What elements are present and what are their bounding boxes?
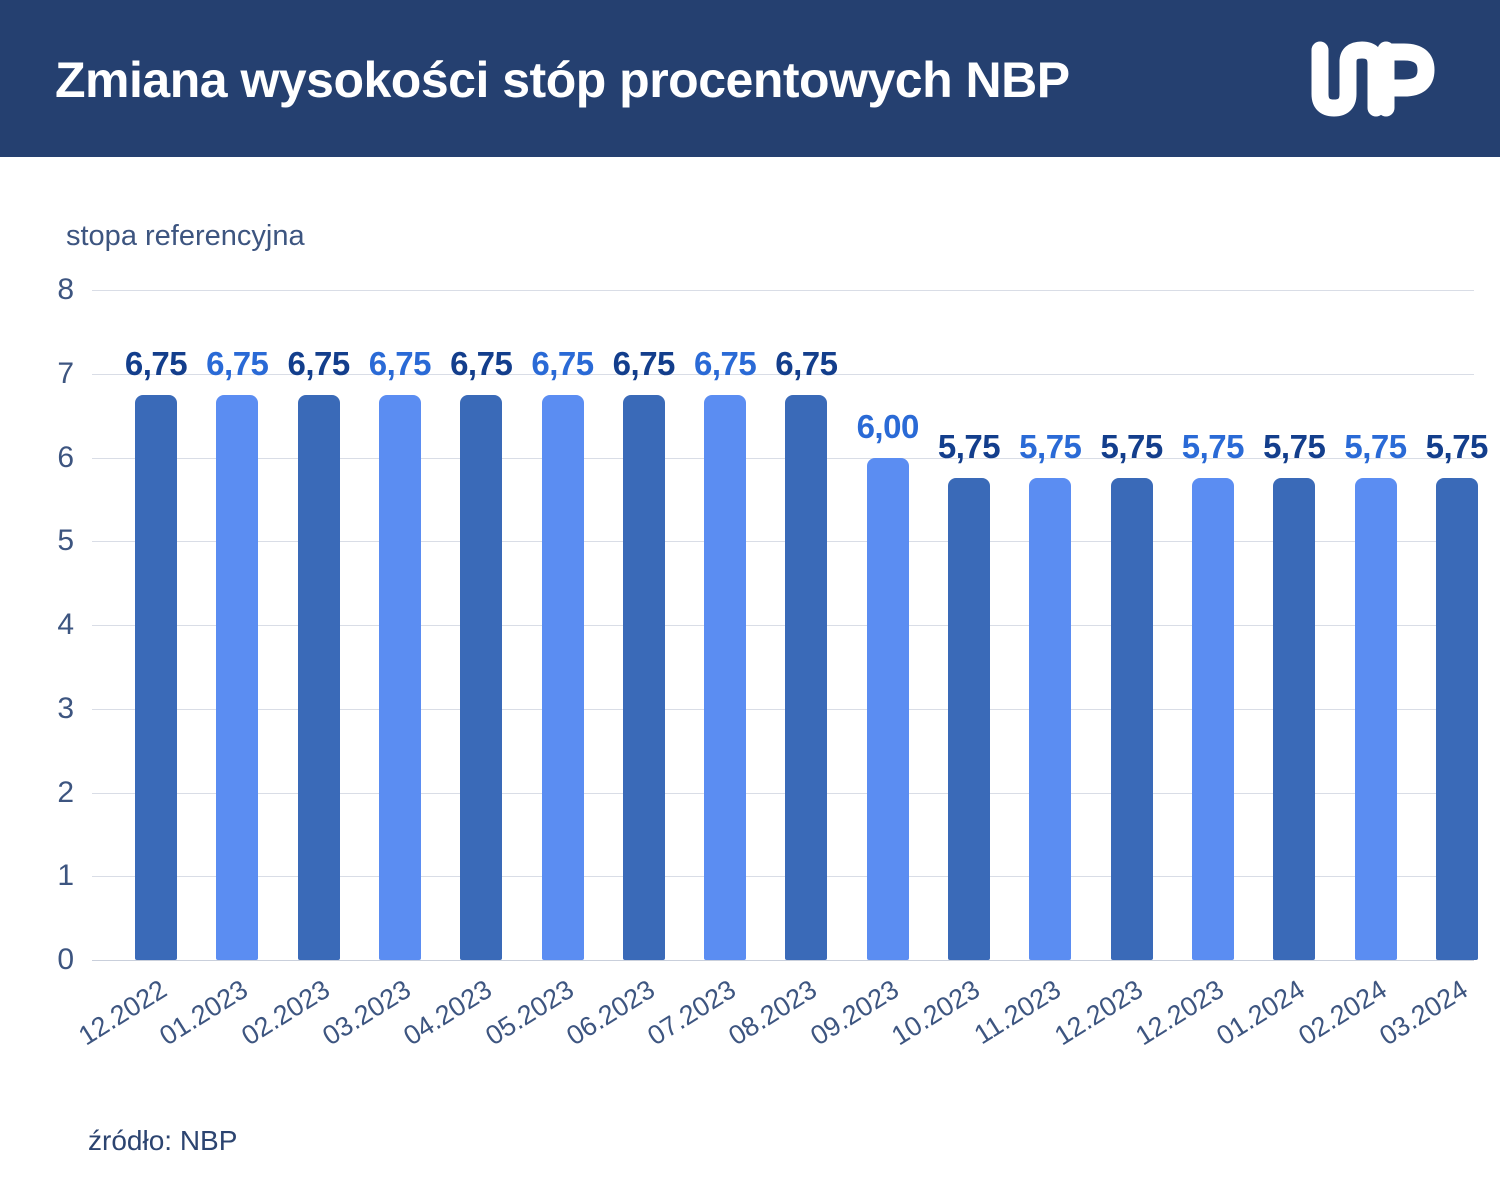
bar-value-label: 5,75: [1344, 428, 1406, 466]
y-axis-tick: 5: [57, 524, 74, 558]
bars-group: 6,7512.20226,7501.20236,7502.20236,7503.…: [92, 290, 1474, 960]
x-axis-tick-label: 09.2023: [805, 974, 904, 1052]
bar[interactable]: [1192, 478, 1234, 960]
bar-value-label: 6,75: [775, 345, 837, 383]
y-axis-tick: 1: [57, 859, 74, 893]
bar-group[interactable]: 6,7506.2023: [623, 290, 665, 960]
bar-value-label: 5,75: [1426, 428, 1488, 466]
bar-group[interactable]: 6,7512.2022: [135, 290, 177, 960]
bar-value-label: 6,00: [857, 408, 919, 446]
bar-group[interactable]: 6,7501.2023: [216, 290, 258, 960]
bar-value-label: 5,75: [1100, 428, 1162, 466]
bar-group[interactable]: 6,7504.2023: [460, 290, 502, 960]
x-axis-tick-label: 07.2023: [642, 974, 741, 1052]
bar-group[interactable]: 5,7511.2023: [1029, 290, 1071, 960]
bar[interactable]: [623, 395, 665, 960]
infographic-page: Zmiana wysokości stóp procentowych NBP s…: [0, 0, 1500, 1202]
bar-group[interactable]: 5,7512.2023: [1192, 290, 1234, 960]
gridline: 0: [92, 960, 1474, 961]
bar[interactable]: [1029, 478, 1071, 960]
wp-logo-icon: [1308, 36, 1436, 122]
bar-value-label: 6,75: [694, 345, 756, 383]
x-axis-tick-label: 08.2023: [724, 974, 823, 1052]
bar-value-label: 6,75: [613, 345, 675, 383]
bar-group[interactable]: 6,7502.2023: [298, 290, 340, 960]
bar-value-label: 5,75: [1263, 428, 1325, 466]
bar[interactable]: [1355, 478, 1397, 960]
bar[interactable]: [1111, 478, 1153, 960]
bar-group[interactable]: 5,7501.2024: [1273, 290, 1315, 960]
y-axis-tick: 8: [57, 273, 74, 307]
x-axis-tick-label: 12.2022: [73, 974, 172, 1052]
bar-group[interactable]: 5,7510.2023: [948, 290, 990, 960]
y-axis-tick: 2: [57, 776, 74, 810]
y-axis-tick: 3: [57, 692, 74, 726]
bar[interactable]: [867, 458, 909, 961]
x-axis-tick-label: 06.2023: [561, 974, 660, 1052]
source-note: źródło: NBP: [88, 1125, 237, 1157]
bar[interactable]: [460, 395, 502, 960]
bar-group[interactable]: 6,7508.2023: [785, 290, 827, 960]
bar[interactable]: [135, 395, 177, 960]
bar-group[interactable]: 6,7507.2023: [704, 290, 746, 960]
x-axis-tick-label: 10.2023: [886, 974, 985, 1052]
x-axis-tick-label: 03.2024: [1374, 974, 1473, 1052]
bar[interactable]: [1436, 478, 1478, 960]
bar[interactable]: [298, 395, 340, 960]
bar-value-label: 5,75: [1019, 428, 1081, 466]
y-axis-tick: 6: [57, 441, 74, 475]
bar-value-label: 6,75: [450, 345, 512, 383]
bar-group[interactable]: 6,0009.2023: [867, 290, 909, 960]
x-axis-tick-label: 12.2023: [1049, 974, 1148, 1052]
bar-value-label: 5,75: [1182, 428, 1244, 466]
x-axis-tick-label: 01.2023: [155, 974, 254, 1052]
bar[interactable]: [948, 478, 990, 960]
bar-group[interactable]: 5,7512.2023: [1111, 290, 1153, 960]
bar-value-label: 6,75: [206, 345, 268, 383]
x-axis-tick-label: 03.2023: [317, 974, 416, 1052]
bar[interactable]: [704, 395, 746, 960]
header-bar: Zmiana wysokości stóp procentowych NBP: [0, 0, 1500, 157]
bar-value-label: 6,75: [287, 345, 349, 383]
bar[interactable]: [1273, 478, 1315, 960]
plot-region: 876543210 6,7512.20226,7501.20236,7502.2…: [92, 290, 1474, 960]
bar-group[interactable]: 6,7503.2023: [379, 290, 421, 960]
x-axis-tick-label: 12.2023: [1130, 974, 1229, 1052]
x-axis-tick-label: 02.2023: [236, 974, 335, 1052]
y-axis-tick: 7: [57, 357, 74, 391]
y-axis-tick: 4: [57, 608, 74, 642]
x-axis-tick-label: 02.2024: [1293, 974, 1392, 1052]
bar-value-label: 6,75: [125, 345, 187, 383]
bar[interactable]: [542, 395, 584, 960]
bar-group[interactable]: 5,7502.2024: [1355, 290, 1397, 960]
chart-area: stopa referencyjna 876543210 6,7512.2022…: [0, 157, 1500, 1202]
bar-value-label: 6,75: [369, 345, 431, 383]
bar-value-label: 5,75: [938, 428, 1000, 466]
bar[interactable]: [785, 395, 827, 960]
x-axis-tick-label: 05.2023: [480, 974, 579, 1052]
bar[interactable]: [379, 395, 421, 960]
x-axis-tick-label: 11.2023: [969, 974, 1067, 1051]
bar-value-label: 6,75: [531, 345, 593, 383]
bar-group[interactable]: 5,7503.2024: [1436, 290, 1478, 960]
x-axis-tick-label: 04.2023: [398, 974, 497, 1052]
y-axis-tick: 0: [57, 943, 74, 977]
y-axis-title: stopa referencyjna: [66, 220, 305, 253]
x-axis-tick-label: 01.2024: [1211, 974, 1310, 1052]
bar[interactable]: [216, 395, 258, 960]
bar-group[interactable]: 6,7505.2023: [542, 290, 584, 960]
page-title: Zmiana wysokości stóp procentowych NBP: [55, 50, 1070, 110]
